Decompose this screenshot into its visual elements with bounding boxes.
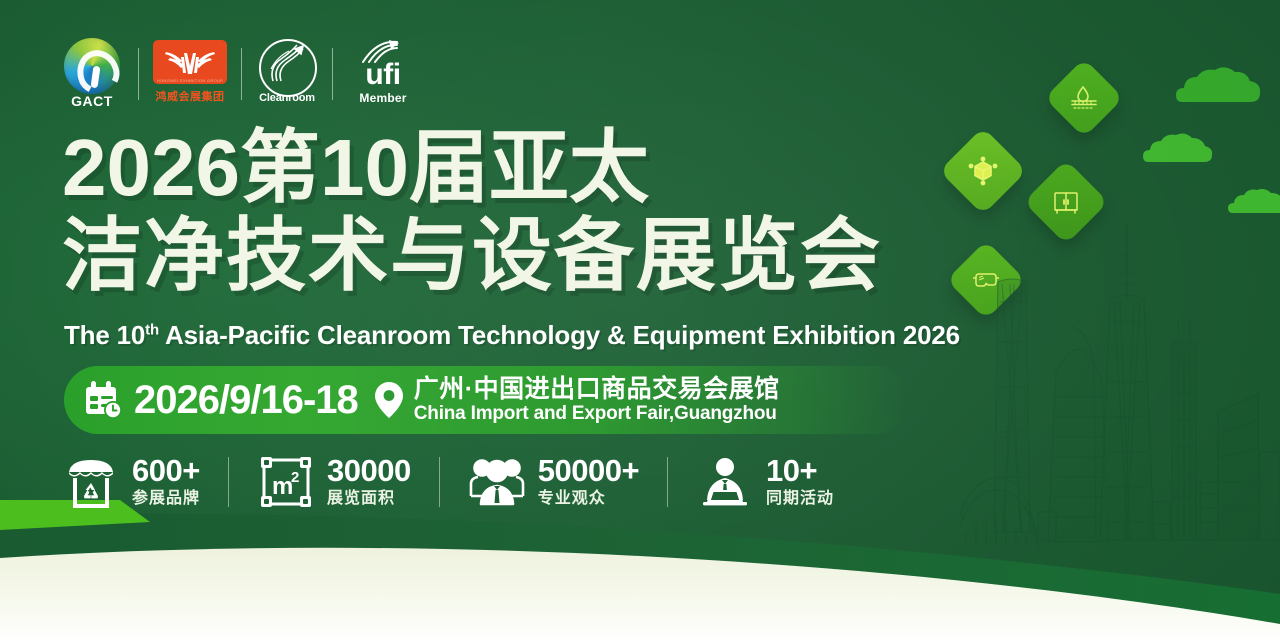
visitors-group-icon (468, 454, 526, 510)
headline-block: 2026第10届亚太 洁净技术与设备展览会 (62, 124, 882, 300)
headline-line-1: 2026第10届亚太 (62, 124, 882, 212)
exhibition-booth-recycle-icon (62, 454, 120, 510)
stat-number: 10+ (766, 455, 834, 487)
water-droplet-filter-icon (1069, 83, 1099, 113)
cleanroom-logo-text: Cleanroom (252, 92, 322, 104)
subtitle-ordinal: th (145, 321, 159, 338)
svg-text:2: 2 (291, 469, 299, 486)
stat-item-area: m 2 30000 展览面积 (257, 454, 411, 510)
english-subtitle: The 10th Asia-Pacific Cleanroom Technolo… (64, 320, 960, 351)
venue-block: 广州·中国进出口商品交易会展馆 China Import and Export … (414, 375, 780, 425)
stat-label: 参展品牌 (132, 488, 200, 510)
logo-divider-3 (332, 48, 333, 100)
stat-item-brands: 600+ 参展品牌 (62, 454, 200, 510)
subtitle-prefix: The 10 (64, 320, 145, 350)
cleanroom-swoosh-icon (259, 39, 313, 93)
stat-divider-3 (667, 457, 668, 507)
stat-item-visitors: 50000+ 专业观众 (468, 454, 639, 510)
stat-number: 50000+ (538, 455, 639, 487)
stats-row: 600+ 参展品牌 m 2 (62, 446, 834, 518)
venue-name-cn: 广州·中国进出口商品交易会展馆 (414, 375, 780, 403)
diamond-badge-water-filter (1044, 58, 1123, 137)
ufi-logo-text: ufi (347, 60, 419, 90)
logo-divider-1 (138, 48, 139, 100)
hongwei-logo-text-cn: 鸿威会展集团 (153, 88, 227, 104)
exhibition-banner: GACT (0, 0, 1280, 640)
cleanroom-logo: Cleanroom (256, 36, 318, 112)
cloud-shape-2 (1140, 130, 1214, 170)
ufi-member-text: Member (347, 91, 419, 105)
speaker-podium-icon (696, 454, 754, 510)
map-pin-icon (374, 381, 404, 419)
hongwei-wing-icon (164, 49, 216, 75)
gact-logo: GACT (60, 36, 124, 112)
calendar-clock-icon (82, 379, 124, 421)
date-venue-bar: 2026/9/16-18 广州·中国进出口商品交易会展馆 China Impor… (64, 366, 910, 434)
bottom-wave (0, 500, 1280, 640)
venue-name-en: China Import and Export Fair,Guangzhou (414, 403, 780, 425)
stat-item-events: 10+ 同期活动 (696, 454, 834, 510)
stat-label: 展览面积 (327, 488, 411, 510)
stat-number: 30000 (327, 455, 411, 487)
exhibition-date: 2026/9/16-18 (134, 378, 358, 423)
cloud-shape-1 (1172, 62, 1264, 108)
subtitle-rest: Asia-Pacific Cleanroom Technology & Equi… (159, 320, 960, 350)
stat-label: 专业观众 (538, 488, 639, 510)
stat-number: 600+ (132, 455, 200, 487)
square-meter-area-icon: m 2 (257, 454, 315, 510)
ufi-logo: ufi Member (347, 36, 419, 112)
stat-divider-2 (439, 457, 440, 507)
stat-label: 同期活动 (766, 488, 834, 510)
organizer-logo-row: GACT (60, 36, 419, 112)
gact-logo-text: GACT (60, 93, 124, 109)
hongwei-logo: HONGWEI EXHIBITION GROUP 鸿威会展集团 (153, 36, 227, 112)
stat-divider-1 (228, 457, 229, 507)
hongwei-logo-text-en: HONGWEI EXHIBITION GROUP (153, 78, 227, 83)
headline-line-2: 洁净技术与设备展览会 (62, 212, 882, 300)
logo-divider-2 (241, 48, 242, 100)
